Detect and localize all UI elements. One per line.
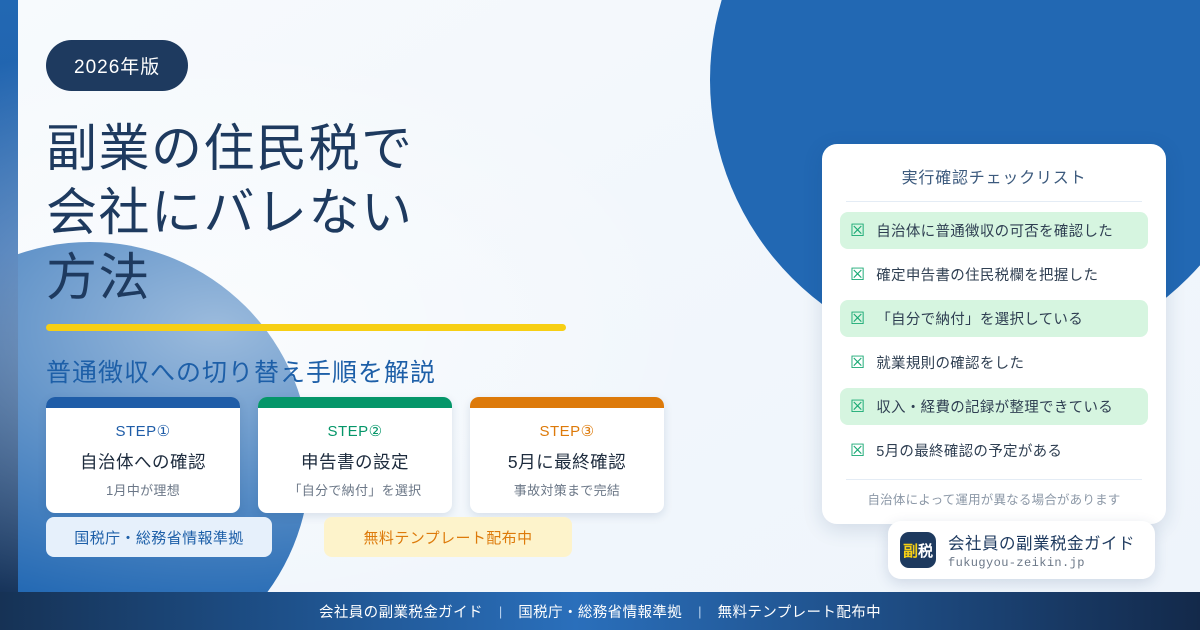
- checklist-note: 自治体によって運用が異なる場合があります: [840, 489, 1148, 508]
- step-card-color-bar: [258, 397, 452, 408]
- pill-source-compliance: 国税庁・総務省情報準拠: [46, 517, 272, 557]
- step-number: STEP②: [258, 422, 452, 440]
- checkbox-checked-icon[interactable]: ☒: [850, 354, 865, 371]
- step-title: 5月に最終確認: [470, 449, 664, 474]
- step-card-color-bar: [470, 397, 664, 408]
- checklist-panel: 実行確認チェックリスト ☒ 自治体に普通徴収の可否を確認した ☒ 確定申告書の住…: [822, 144, 1166, 524]
- brand-text: 会社員の副業税金ガイド fukugyou-zeikin.jp: [948, 530, 1135, 570]
- checklist-item[interactable]: ☒ 「自分で納付」を選択している: [840, 300, 1148, 337]
- footer-bar: 会社員の副業税金ガイド | 国税庁・総務省情報準拠 | 無料テンプレート配布中: [0, 592, 1200, 630]
- pill-free-template: 無料テンプレート配布中: [324, 517, 572, 557]
- checklist-item-label: 5月の最終確認の予定がある: [876, 440, 1062, 461]
- logo-char-2: 税: [918, 540, 933, 561]
- step-card-color-bar: [46, 397, 240, 408]
- checkbox-checked-icon[interactable]: ☒: [850, 442, 865, 459]
- headline-line-3: 方法: [46, 246, 686, 310]
- headline-line-1: 副業の住民税で: [46, 117, 686, 181]
- checkbox-checked-icon[interactable]: ☒: [850, 266, 865, 283]
- step-subtitle: 「自分で納付」を選択: [258, 480, 452, 499]
- checklist-title: 実行確認チェックリスト: [840, 164, 1148, 201]
- footer-separator: |: [698, 604, 701, 619]
- brand-card[interactable]: 副税 会社員の副業税金ガイド fukugyou-zeikin.jp: [888, 521, 1155, 579]
- checklist-divider-bottom: [846, 479, 1142, 480]
- footer-separator: |: [499, 604, 502, 619]
- checklist-item-label: 自治体に普通徴収の可否を確認した: [876, 220, 1113, 241]
- checklist-item-label: 就業規則の確認をした: [876, 352, 1024, 373]
- logo-char-1: 副: [903, 540, 918, 561]
- step-title: 自治体への確認: [46, 449, 240, 474]
- step-subtitle: 事故対策まで完結: [470, 480, 664, 499]
- checklist-item[interactable]: ☒ 確定申告書の住民税欄を把握した: [840, 256, 1148, 293]
- hero-text-block: 2026年版 副業の住民税で 会社にバレない 方法 普通徴収への切り替え手順を解…: [46, 40, 686, 389]
- hero-banner: 2026年版 副業の住民税で 会社にバレない 方法 普通徴収への切り替え手順を解…: [0, 0, 1200, 630]
- checkbox-checked-icon[interactable]: ☒: [850, 310, 865, 327]
- checklist-divider-top: [846, 201, 1142, 202]
- footer-item-compliance: 国税庁・総務省情報準拠: [518, 601, 682, 622]
- checkbox-checked-icon[interactable]: ☒: [850, 222, 865, 239]
- step-title: 申告書の設定: [258, 449, 452, 474]
- checklist-item[interactable]: ☒ 収入・経費の記録が整理できている: [840, 388, 1148, 425]
- step-card: STEP① 自治体への確認 1月中が理想: [46, 397, 240, 513]
- title-underline-rule: [46, 324, 566, 331]
- brand-name: 会社員の副業税金ガイド: [948, 530, 1135, 554]
- footer-item-template: 無料テンプレート配布中: [718, 601, 881, 622]
- step-number: STEP③: [470, 422, 664, 440]
- checklist-item[interactable]: ☒ 自治体に普通徴収の可否を確認した: [840, 212, 1148, 249]
- checkbox-checked-icon[interactable]: ☒: [850, 398, 865, 415]
- checklist-item[interactable]: ☒ 就業規則の確認をした: [840, 344, 1148, 381]
- footer-items: 会社員の副業税金ガイド | 国税庁・総務省情報準拠 | 無料テンプレート配布中: [319, 601, 881, 622]
- decorative-left-accent-bar: [0, 0, 18, 630]
- year-badge: 2026年版: [46, 40, 188, 91]
- checklist-item-label: 「自分で納付」を選択している: [876, 308, 1083, 329]
- step-card-list: STEP① 自治体への確認 1月中が理想 STEP② 申告書の設定 「自分で納付…: [46, 397, 664, 513]
- step-number: STEP①: [46, 422, 240, 440]
- checklist-item[interactable]: ☒ 5月の最終確認の予定がある: [840, 432, 1148, 469]
- step-card: STEP② 申告書の設定 「自分で納付」を選択: [258, 397, 452, 513]
- page-title: 副業の住民税で 会社にバレない 方法: [46, 117, 686, 310]
- brand-url: fukugyou-zeikin.jp: [948, 556, 1135, 570]
- step-card: STEP③ 5月に最終確認 事故対策まで完結: [470, 397, 664, 513]
- badge-pill-row: 国税庁・総務省情報準拠 無料テンプレート配布中: [46, 517, 572, 557]
- step-subtitle: 1月中が理想: [46, 480, 240, 499]
- site-logo-icon: 副税: [900, 532, 936, 568]
- headline-line-2: 会社にバレない: [46, 181, 686, 245]
- checklist-item-label: 収入・経費の記録が整理できている: [876, 396, 1113, 417]
- checklist-item-label: 確定申告書の住民税欄を把握した: [876, 264, 1098, 285]
- footer-item-site: 会社員の副業税金ガイド: [319, 601, 483, 622]
- page-subtitle: 普通徴収への切り替え手順を解説: [46, 353, 686, 389]
